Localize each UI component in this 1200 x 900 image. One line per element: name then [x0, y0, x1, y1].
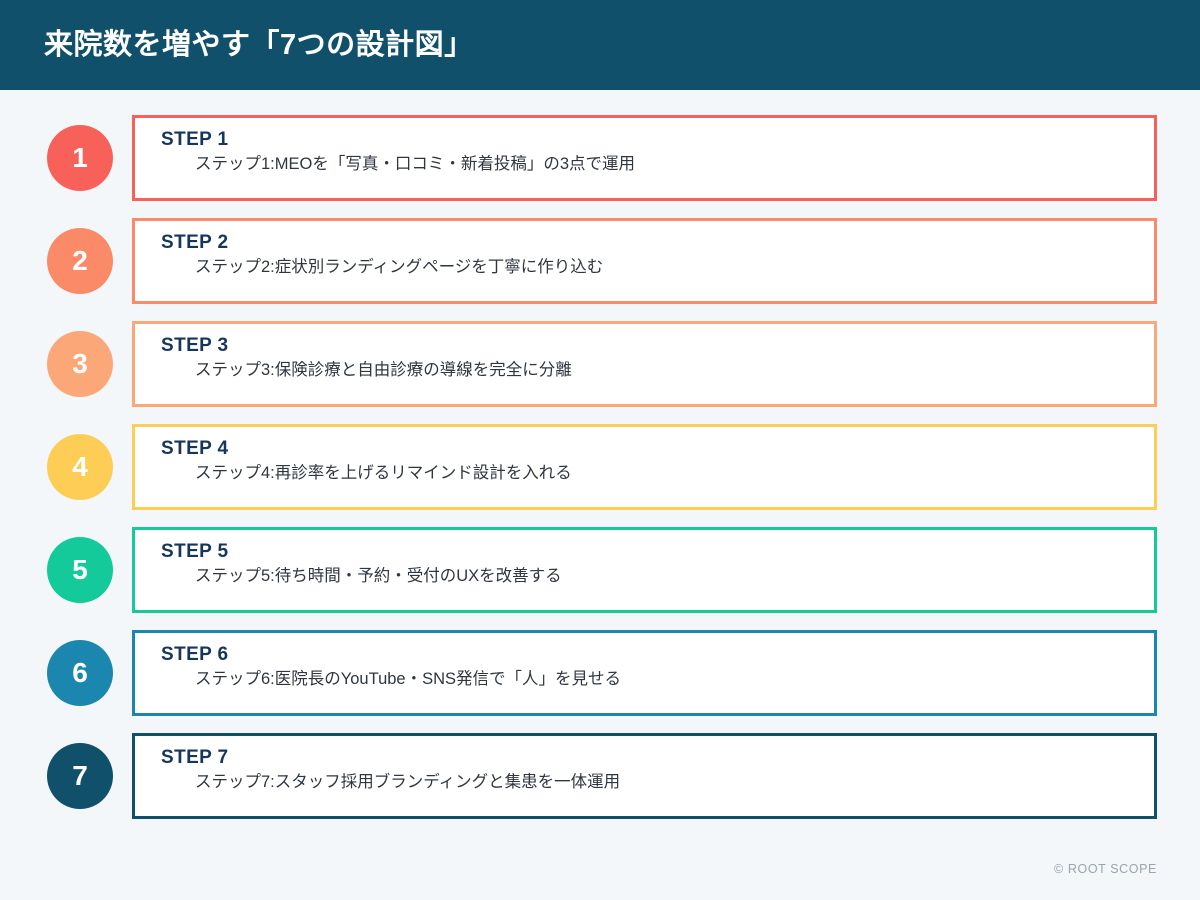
page-header: 来院数を増やす「7つの設計図」	[0, 0, 1200, 90]
step-number-label: 6	[72, 659, 88, 687]
step-row: 4 STEP 4 ステップ4:再診率を上げるリマインド設計を入れる	[0, 428, 1200, 506]
step-row: 2 STEP 2 ステップ2:症状別ランディングページを丁寧に作り込む	[0, 222, 1200, 300]
footer-copyright: © ROOT SCOPE	[1054, 862, 1157, 876]
step-description: ステップ6:医院長のYouTube・SNS発信で「人」を見せる	[195, 669, 1154, 690]
page-title: 来院数を増やす「7つの設計図」	[44, 31, 474, 60]
step-card-5: STEP 5 ステップ5:待ち時間・予約・受付のUXを改善する	[132, 527, 1157, 613]
step-heading: STEP 2	[161, 232, 1154, 254]
step-card-7: STEP 7 ステップ7:スタッフ採用ブランディングと集患を一体運用	[132, 733, 1157, 819]
step-number-badge-3: 3	[47, 331, 113, 397]
step-description: ステップ1:MEOを「写真・口コミ・新着投稿」の3点で運用	[195, 154, 1154, 175]
step-row: 1 STEP 1 ステップ1:MEOを「写真・口コミ・新着投稿」の3点で運用	[0, 119, 1200, 197]
step-row: 5 STEP 5 ステップ5:待ち時間・予約・受付のUXを改善する	[0, 531, 1200, 609]
step-card-3: STEP 3 ステップ3:保険診療と自由診療の導線を完全に分離	[132, 321, 1157, 407]
step-heading: STEP 6	[161, 644, 1154, 666]
step-card-2: STEP 2 ステップ2:症状別ランディングページを丁寧に作り込む	[132, 218, 1157, 304]
step-card-4: STEP 4 ステップ4:再診率を上げるリマインド設計を入れる	[132, 424, 1157, 510]
step-number-label: 7	[72, 762, 88, 790]
step-description: ステップ3:保険診療と自由診療の導線を完全に分離	[195, 360, 1154, 381]
step-heading: STEP 3	[161, 335, 1154, 357]
step-description: ステップ5:待ち時間・予約・受付のUXを改善する	[195, 566, 1154, 587]
step-card-6: STEP 6 ステップ6:医院長のYouTube・SNS発信で「人」を見せる	[132, 630, 1157, 716]
step-number-label: 2	[72, 247, 88, 275]
steps-list: 1 STEP 1 ステップ1:MEOを「写真・口コミ・新着投稿」の3点で運用 2…	[0, 90, 1200, 815]
step-row: 7 STEP 7 ステップ7:スタッフ採用ブランディングと集患を一体運用	[0, 737, 1200, 815]
step-number-badge-1: 1	[47, 125, 113, 191]
step-card-1: STEP 1 ステップ1:MEOを「写真・口コミ・新着投稿」の3点で運用	[132, 115, 1157, 201]
step-description: ステップ4:再診率を上げるリマインド設計を入れる	[195, 463, 1154, 484]
step-number-badge-5: 5	[47, 537, 113, 603]
step-number-label: 4	[72, 453, 88, 481]
step-description: ステップ2:症状別ランディングページを丁寧に作り込む	[195, 257, 1154, 278]
step-heading: STEP 1	[161, 129, 1154, 151]
step-number-label: 5	[72, 556, 88, 584]
step-row: 3 STEP 3 ステップ3:保険診療と自由診療の導線を完全に分離	[0, 325, 1200, 403]
step-number-badge-2: 2	[47, 228, 113, 294]
step-number-label: 1	[72, 144, 88, 172]
step-description: ステップ7:スタッフ採用ブランディングと集患を一体運用	[195, 772, 1154, 793]
step-heading: STEP 5	[161, 541, 1154, 563]
step-row: 6 STEP 6 ステップ6:医院長のYouTube・SNS発信で「人」を見せる	[0, 634, 1200, 712]
step-number-label: 3	[72, 350, 88, 378]
step-number-badge-7: 7	[47, 743, 113, 809]
step-heading: STEP 4	[161, 438, 1154, 460]
step-number-badge-6: 6	[47, 640, 113, 706]
step-number-badge-4: 4	[47, 434, 113, 500]
step-heading: STEP 7	[161, 747, 1154, 769]
